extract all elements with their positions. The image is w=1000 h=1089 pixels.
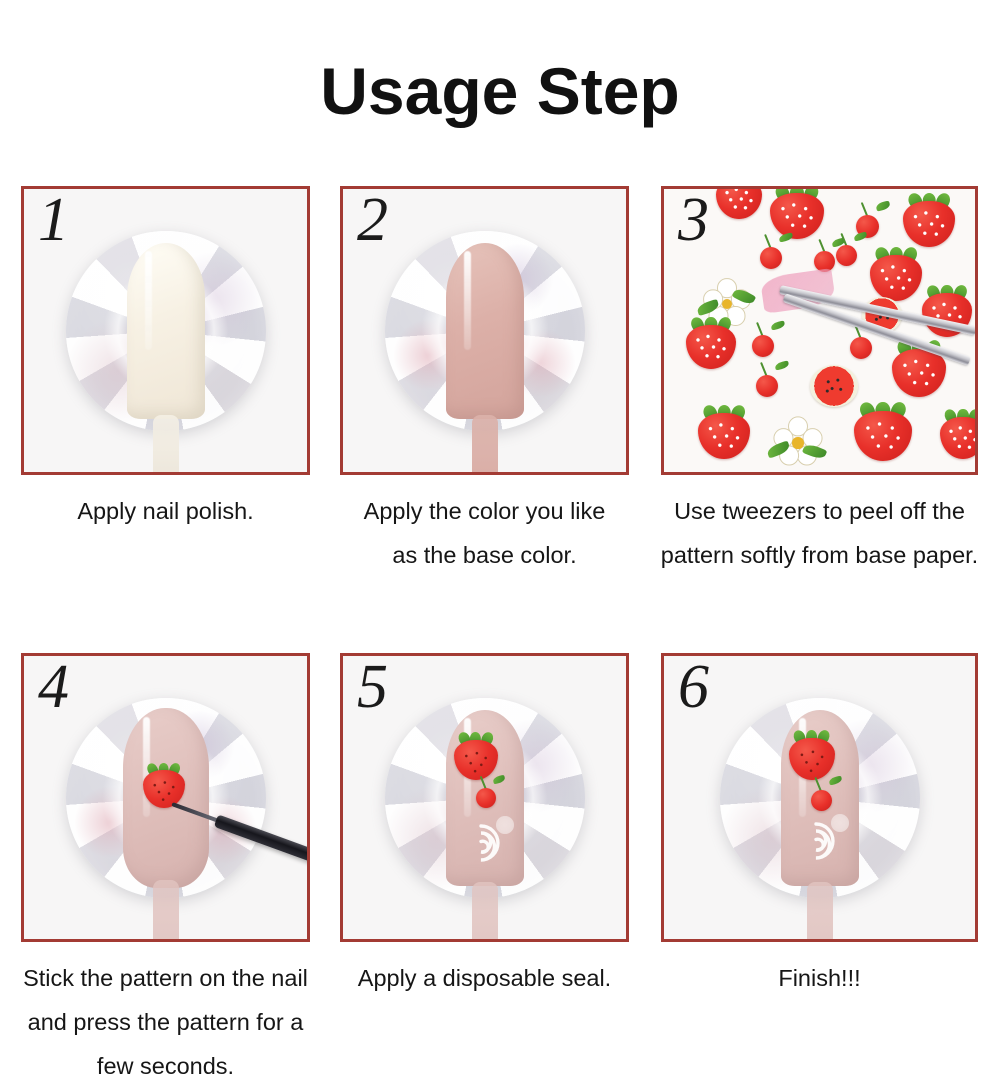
cherry-icon xyxy=(836,245,857,266)
step-caption-5: Apply a disposable seal. xyxy=(340,956,629,1000)
nail-finished-art xyxy=(781,710,859,886)
step-number-3: 3 xyxy=(678,186,709,256)
step-number-2: 2 xyxy=(357,186,388,256)
step-card-6: 6 xyxy=(661,653,978,1000)
step-image-2: 2 xyxy=(340,186,629,475)
step-row-top: 1 Apply nail polish. 2 Apply the color y… xyxy=(0,186,1000,564)
step-caption-1: Apply nail polish. xyxy=(21,489,310,533)
flower-icon xyxy=(776,421,820,465)
strawberry-icon xyxy=(770,193,824,239)
seal-dot xyxy=(831,814,849,832)
strawberry-icon xyxy=(454,740,498,780)
step-image-6: 6 xyxy=(661,653,978,942)
step-image-3: 3 xyxy=(661,186,978,475)
nail-art-layer xyxy=(446,710,524,886)
strawberry-icon xyxy=(686,325,736,369)
spiral-icon xyxy=(795,820,837,862)
tweezers-icon xyxy=(780,267,978,327)
step-card-4: 4 Stick the pa xyxy=(21,653,310,1088)
strawberry-icon xyxy=(789,738,835,780)
cherry-icon xyxy=(850,337,872,359)
step-number-1: 1 xyxy=(38,186,69,256)
step-image-1: 1 xyxy=(21,186,310,475)
seal-dot xyxy=(496,816,514,834)
strawberry-icon xyxy=(854,411,912,461)
cherry-icon xyxy=(760,247,782,269)
step-number-6: 6 xyxy=(678,653,709,723)
sticker-sheet xyxy=(664,189,975,472)
nail-pink xyxy=(446,243,524,419)
strawberry-icon xyxy=(716,186,762,219)
step-number-5: 5 xyxy=(357,653,388,723)
page-title: Usage Step xyxy=(0,58,1000,124)
step-number-4: 4 xyxy=(38,653,69,723)
step-caption-6: Finish!!! xyxy=(661,956,978,1000)
step-image-5: 5 xyxy=(340,653,629,942)
nail-finished-art xyxy=(446,710,524,886)
usage-step-grid: 1 Apply nail polish. 2 Apply the color y… xyxy=(0,186,1000,1089)
strawberry-icon xyxy=(892,349,946,397)
step-caption-2: Apply the color you like as the base col… xyxy=(340,489,629,577)
nail-art-layer xyxy=(781,710,859,886)
cherry-icon xyxy=(811,790,832,811)
cherry-icon xyxy=(752,335,774,357)
step-card-5: 5 xyxy=(340,653,629,1000)
spiral-icon xyxy=(460,822,502,864)
step-caption-4: Stick the pattern on the nail and press … xyxy=(7,956,324,1088)
cherry-icon xyxy=(476,788,496,808)
watermelon-icon xyxy=(810,365,858,407)
step-caption-3: Use tweezers to peel off the pattern sof… xyxy=(649,489,990,577)
cherry-icon xyxy=(756,375,778,397)
brush-tool-icon xyxy=(172,798,310,878)
strawberry-icon xyxy=(903,201,955,247)
step-card-3: 3 Use tweezers to peel off the pattern s… xyxy=(661,186,978,577)
step-card-1: 1 Apply nail polish. xyxy=(21,186,310,533)
nail-white xyxy=(127,243,205,419)
step-image-4: 4 xyxy=(21,653,310,942)
strawberry-icon xyxy=(940,417,978,459)
step-card-2: 2 Apply the color you like as the base c… xyxy=(340,186,629,577)
strawberry-icon xyxy=(698,413,750,459)
step-row-bottom: 4 Stick the pa xyxy=(0,653,1000,1089)
